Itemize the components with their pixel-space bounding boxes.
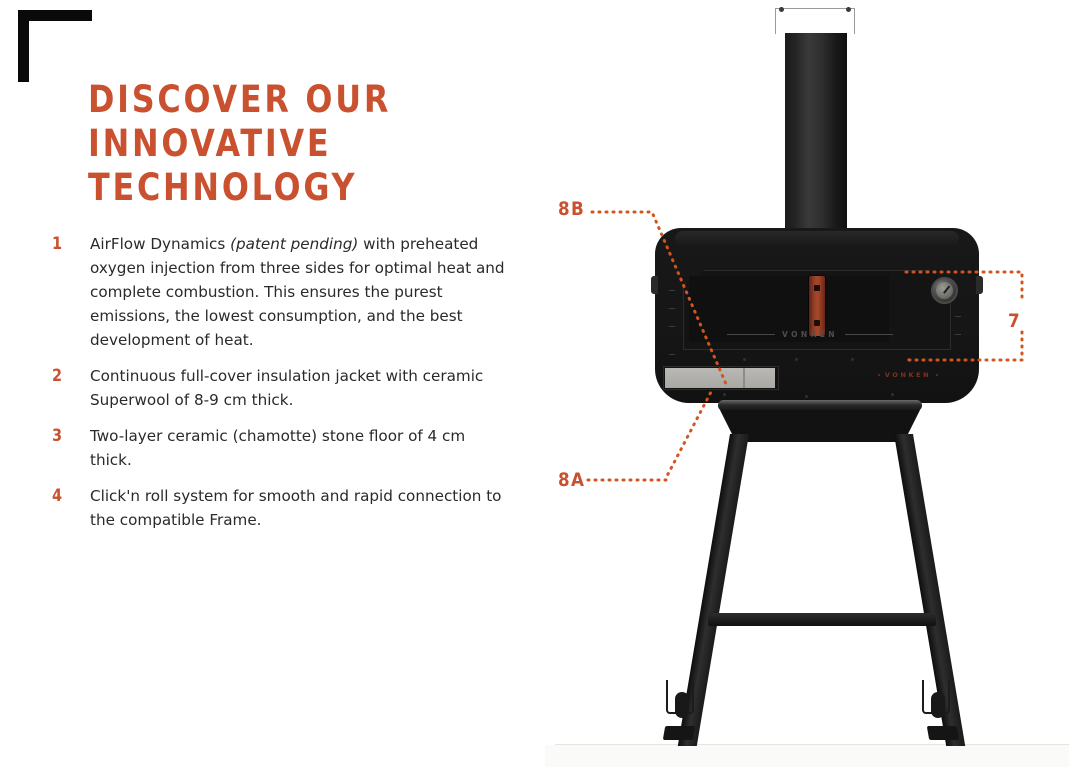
- list-item: 3 Two-layer ceramic (chamotte) stone flo…: [50, 424, 505, 472]
- brand-rule-right: [845, 334, 893, 335]
- vent-slot: [743, 368, 745, 388]
- rivet: [907, 358, 910, 361]
- stand-wheel-right: [922, 680, 954, 730]
- feature-text-emphasis: (patent pending): [230, 235, 358, 253]
- feature-text: Continuous full-cover insulation jacket …: [90, 364, 505, 412]
- corner-bracket-horizontal-arm: [18, 10, 92, 21]
- list-item: 4 Click'n roll system for smooth and rap…: [50, 484, 505, 532]
- rivet: [795, 358, 798, 361]
- oven-hinge-left: [651, 276, 658, 294]
- callout-label-8a: 8A: [558, 469, 585, 491]
- temperature-gauge: [931, 277, 958, 304]
- brand-mark: VONKEN: [727, 328, 893, 340]
- chimney-cap: [775, 8, 855, 34]
- oven-body: VONKEN VONKEN: [655, 228, 979, 403]
- rivet: [891, 393, 894, 396]
- oven-hinge-right: [976, 276, 983, 294]
- brand-name: VONKEN: [782, 330, 838, 339]
- feature-number: 4: [52, 485, 71, 508]
- brand-name-lower: VONKEN: [885, 371, 931, 379]
- ground-line: [555, 744, 1069, 745]
- stand-wheel-left: [666, 680, 698, 730]
- feature-list: 1 AirFlow Dynamics (patent pending) with…: [50, 232, 505, 544]
- chimney-pipe: [785, 33, 847, 233]
- rivet: [805, 395, 808, 398]
- callout-label-7: 7: [1008, 310, 1020, 332]
- panel-tick: [669, 354, 675, 355]
- panel-tick: [955, 334, 961, 335]
- stand-foot-left: [663, 726, 695, 740]
- page-title: DISCOVER OUR INNOVATIVE TECHNOLOGY: [88, 78, 458, 210]
- feature-text: AirFlow Dynamics (patent pending) with p…: [90, 232, 505, 352]
- ground-shading: [545, 745, 1069, 767]
- corner-bracket-decoration: [18, 10, 92, 82]
- callout-label-8b: 8B: [558, 198, 585, 220]
- handle-screw-top: [814, 285, 820, 291]
- stand-foot-right: [927, 726, 959, 740]
- feature-number: 3: [52, 425, 71, 448]
- panel-tick: [669, 326, 675, 327]
- oven-shelf-bar: [718, 400, 922, 411]
- brand-mark-lower: VONKEN: [860, 371, 956, 379]
- list-item: 1 AirFlow Dynamics (patent pending) with…: [50, 232, 505, 352]
- rivet: [851, 358, 854, 361]
- stand-crossbar: [708, 613, 936, 626]
- corner-bracket-vertical-arm: [18, 10, 29, 82]
- rivet: [743, 358, 746, 361]
- panel-tick: [669, 308, 675, 309]
- panel-tick: [955, 316, 961, 317]
- oven-top-highlight: [675, 231, 959, 247]
- page-root: DISCOVER OUR INNOVATIVE TECHNOLOGY 1 Air…: [0, 0, 1069, 767]
- feature-number: 2: [52, 365, 71, 388]
- brand-rule-left: [727, 334, 775, 335]
- feature-text-lead: AirFlow Dynamics: [90, 235, 230, 253]
- brand-dot-left: [878, 374, 880, 376]
- wheel-tire: [675, 692, 689, 718]
- feature-number: 1: [52, 233, 71, 256]
- oven-door-handle[interactable]: [809, 276, 825, 336]
- handle-screw-bottom: [814, 320, 820, 326]
- feature-text: Click'n roll system for smooth and rapid…: [90, 484, 505, 532]
- brand-dot-right: [936, 374, 938, 376]
- stand-top-bracket: [720, 410, 920, 442]
- rivet: [723, 393, 726, 396]
- list-item: 2 Continuous full-cover insulation jacke…: [50, 364, 505, 412]
- wheel-tire: [931, 692, 945, 718]
- oven-vent-label: [665, 368, 775, 388]
- panel-tick: [669, 290, 675, 291]
- feature-text: Two-layer ceramic (chamotte) stone floor…: [90, 424, 505, 472]
